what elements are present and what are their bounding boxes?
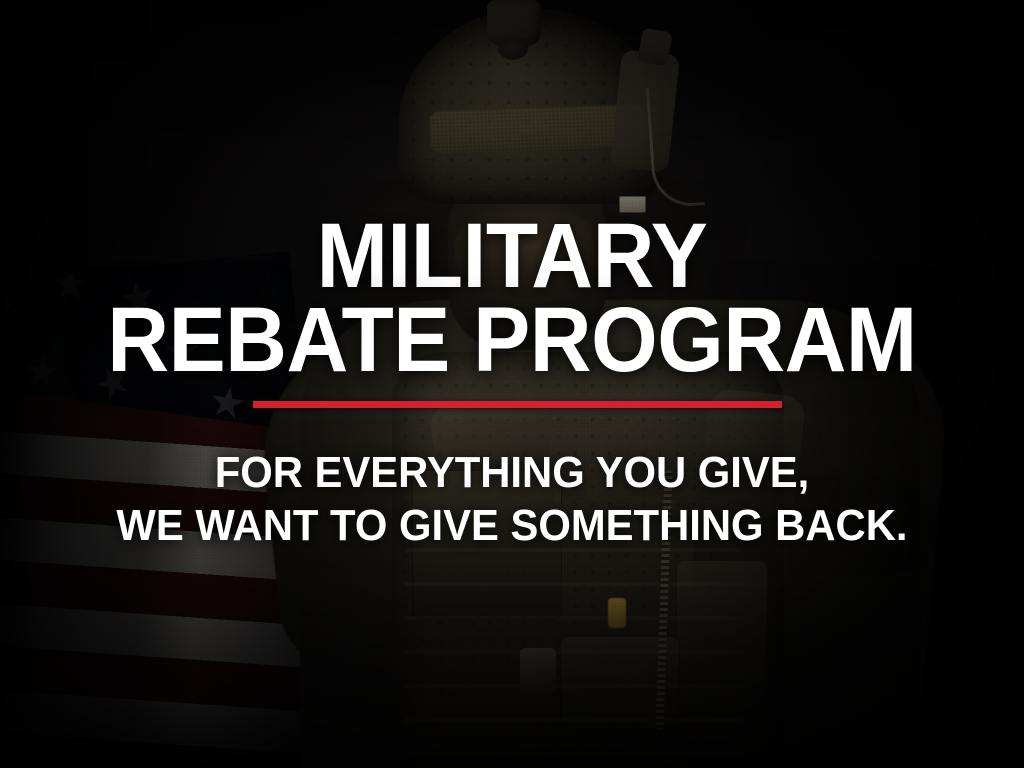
- headline-line-1: MILITARY: [36, 212, 988, 300]
- text-overlay: MILITARY REBATE PROGRAM FOR EVERYTHING Y…: [0, 0, 1024, 768]
- subtitle-line-1: FOR EVERYTHING YOU GIVE,: [26, 447, 999, 499]
- subtitle-line-2: WE WANT TO GIVE SOMETHING BACK.: [26, 500, 999, 552]
- headline-line-2: REBATE PROGRAM: [36, 296, 988, 384]
- poster-canvas: MILITARY REBATE PROGRAM FOR EVERYTHING Y…: [0, 0, 1024, 768]
- accent-divider-rule: [253, 401, 782, 408]
